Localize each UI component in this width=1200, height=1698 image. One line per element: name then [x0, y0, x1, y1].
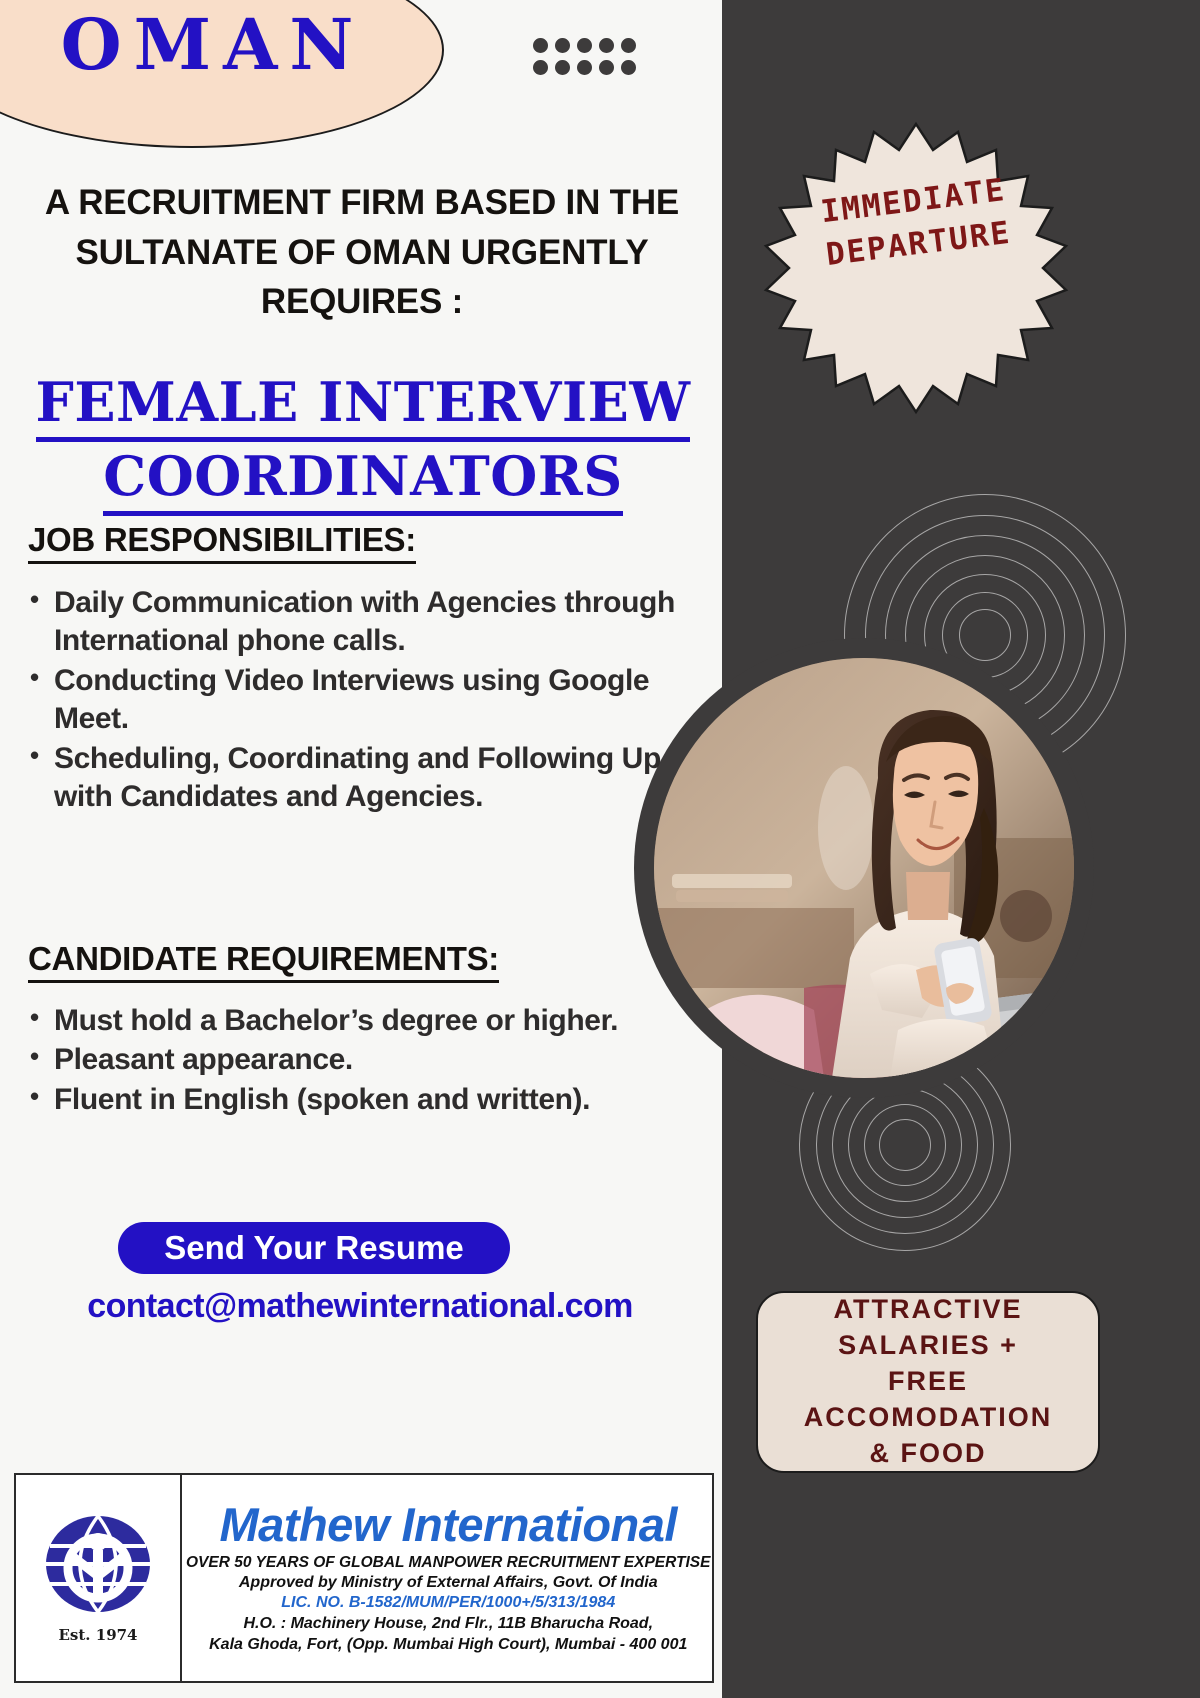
list-item: Pleasant appearance. — [54, 1041, 694, 1079]
list-item: Conducting Video Interviews using Google… — [54, 662, 694, 739]
candidate-photo — [654, 658, 1074, 1078]
dot-grid-icon — [533, 38, 643, 82]
company-details: Mathew International OVER 50 YEARS OF GL… — [182, 1475, 715, 1681]
perks-box: ATTRACTIVE SALARIES + FREE ACCOMODATION … — [756, 1291, 1100, 1473]
list-item: Daily Communication with Agencies throug… — [54, 584, 694, 661]
company-logo: Est. 1974 — [16, 1475, 182, 1681]
requirements-heading: CANDIDATE REQUIREMENTS: — [28, 940, 499, 983]
perks-line-2: SALARIES + — [804, 1328, 1052, 1364]
job-title: FEMALE INTERVIEW COORDINATORS — [18, 368, 708, 516]
company-approval: Approved by Ministry of External Affairs… — [239, 1574, 658, 1592]
company-tagline: OVER 50 YEARS OF GLOBAL MANPOWER RECRUIT… — [186, 1554, 711, 1572]
list-item: Fluent in English (spoken and written). — [54, 1081, 694, 1119]
job-title-line-2: COORDINATORS — [103, 442, 622, 516]
list-item: Must hold a Bachelor’s degree or higher. — [54, 1002, 694, 1040]
requirements-list: Must hold a Bachelor’s degree or higher.… — [18, 1002, 694, 1120]
perks-line-4: ACCOMODATION — [804, 1400, 1052, 1436]
requirements-heading-text: CANDIDATE REQUIREMENTS: — [28, 940, 499, 983]
company-address-line-1: H.O. : Machinery House, 2nd Flr., 11B Bh… — [243, 1615, 653, 1633]
globe-figure-logo-icon — [38, 1512, 158, 1624]
perks-text: ATTRACTIVE SALARIES + FREE ACCOMODATION … — [804, 1292, 1052, 1472]
company-license: LIC. NO. B-1582/MUM/PER/1000+/5/313/1984 — [281, 1594, 615, 1612]
perks-line-5: & FOOD — [804, 1436, 1052, 1472]
perks-line-1: ATTRACTIVE — [804, 1292, 1052, 1328]
responsibilities-list: Daily Communication with Agencies throug… — [18, 584, 694, 817]
company-footer: Est. 1974 Mathew International OVER 50 Y… — [14, 1473, 714, 1683]
company-address-line-2: Kala Ghoda, Fort, (Opp. Mumbai High Cour… — [209, 1636, 687, 1654]
responsibilities-heading: JOB RESPONSIBILITIES: — [28, 521, 416, 564]
country-badge-label: OMAN — [18, 10, 408, 80]
job-title-line-1: FEMALE INTERVIEW — [36, 368, 691, 442]
company-name: Mathew International — [220, 1500, 677, 1549]
list-item: Scheduling, Coordinating and Following U… — [54, 740, 694, 817]
perks-line-3: FREE — [804, 1364, 1052, 1400]
contact-email[interactable]: contact@mathewinternational.com — [10, 1287, 710, 1326]
responsibilities-heading-text: JOB RESPONSIBILITIES: — [28, 521, 416, 564]
send-resume-button[interactable]: Send Your Resume — [118, 1222, 510, 1274]
established-year: Est. 1974 — [59, 1626, 138, 1644]
recruitment-poster: OMAN A RECRUITMENT FIRM BASED IN THE SUL… — [0, 0, 1200, 1698]
page-headline: A RECRUITMENT FIRM BASED IN THE SULTANAT… — [24, 178, 700, 327]
